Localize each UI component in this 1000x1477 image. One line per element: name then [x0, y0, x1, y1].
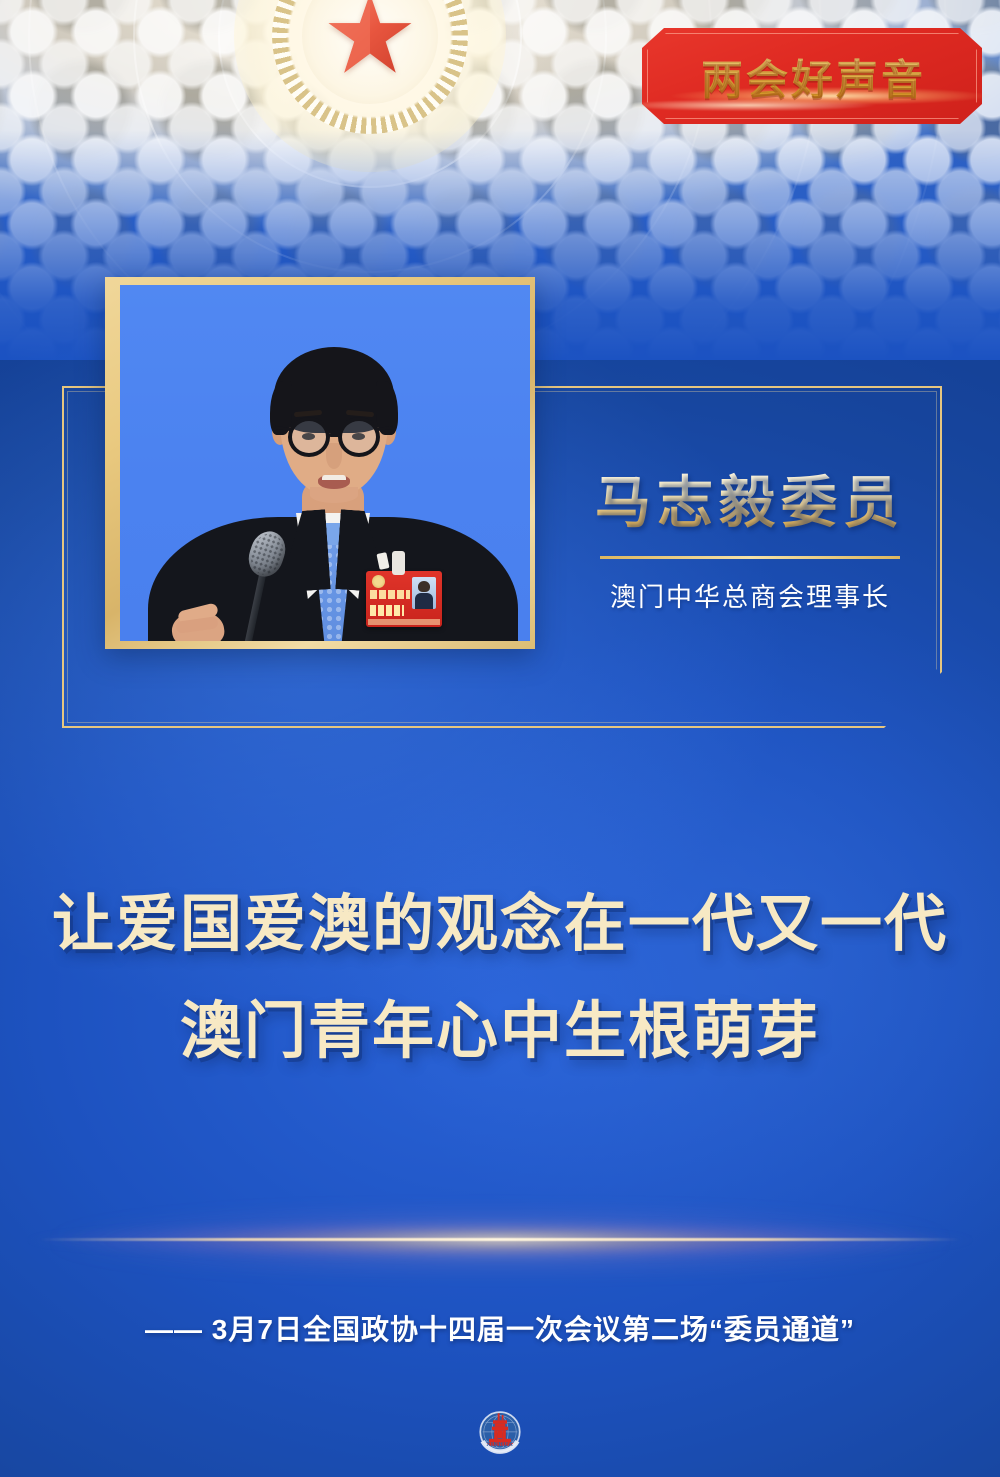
glasses-lens-left-icon	[288, 417, 330, 457]
xinhua-wordmark: XINHUA	[486, 1442, 513, 1448]
poster-canvas: 两会好声音	[0, 0, 1000, 1477]
xinhua-logo: XINHUA	[471, 1404, 529, 1462]
portrait-chin	[310, 487, 358, 503]
portrait-photo	[120, 285, 530, 641]
speaker-name: 马志毅委员	[580, 472, 920, 534]
credential-badge-header-text	[370, 590, 410, 599]
portrait-photo-frame	[105, 277, 535, 649]
source-caption: —— 3月7日全国政协十四届一次会议第二场“委员通道”	[0, 1308, 1000, 1348]
main-quote: 让爱国爱澳的观念在一代又一代 澳门青年心中生根萌芽	[0, 872, 1000, 1085]
credential-badge-footer-strip	[368, 619, 440, 625]
credential-badge-photo-body	[415, 593, 433, 609]
cppcc-emblem-icon	[372, 575, 385, 588]
speaker-divider	[600, 556, 900, 559]
credential-badge-photo-head	[418, 581, 430, 592]
ceiling-medallion	[272, 0, 468, 134]
portrait-nose	[326, 443, 342, 469]
red-star-icon	[324, 0, 416, 82]
badge-label: 两会好声音	[642, 28, 982, 124]
credential-badge-number-text	[370, 605, 404, 616]
speaker-title: 澳门中华总商会理事长	[580, 577, 920, 614]
quote-line-2: 澳门青年心中生根萌芽	[0, 979, 1000, 1086]
program-badge: 两会好声音	[642, 28, 982, 124]
portrait-teeth	[322, 475, 346, 480]
quote-line-1: 让爱国爱澳的观念在一代又一代	[0, 872, 1000, 979]
glasses-bridge-icon	[329, 433, 341, 437]
speaker-info: 马志毅委员 澳门中华总商会理事长	[580, 472, 920, 614]
credential-badge-clip	[392, 551, 405, 575]
glasses-lens-right-icon	[338, 417, 380, 457]
